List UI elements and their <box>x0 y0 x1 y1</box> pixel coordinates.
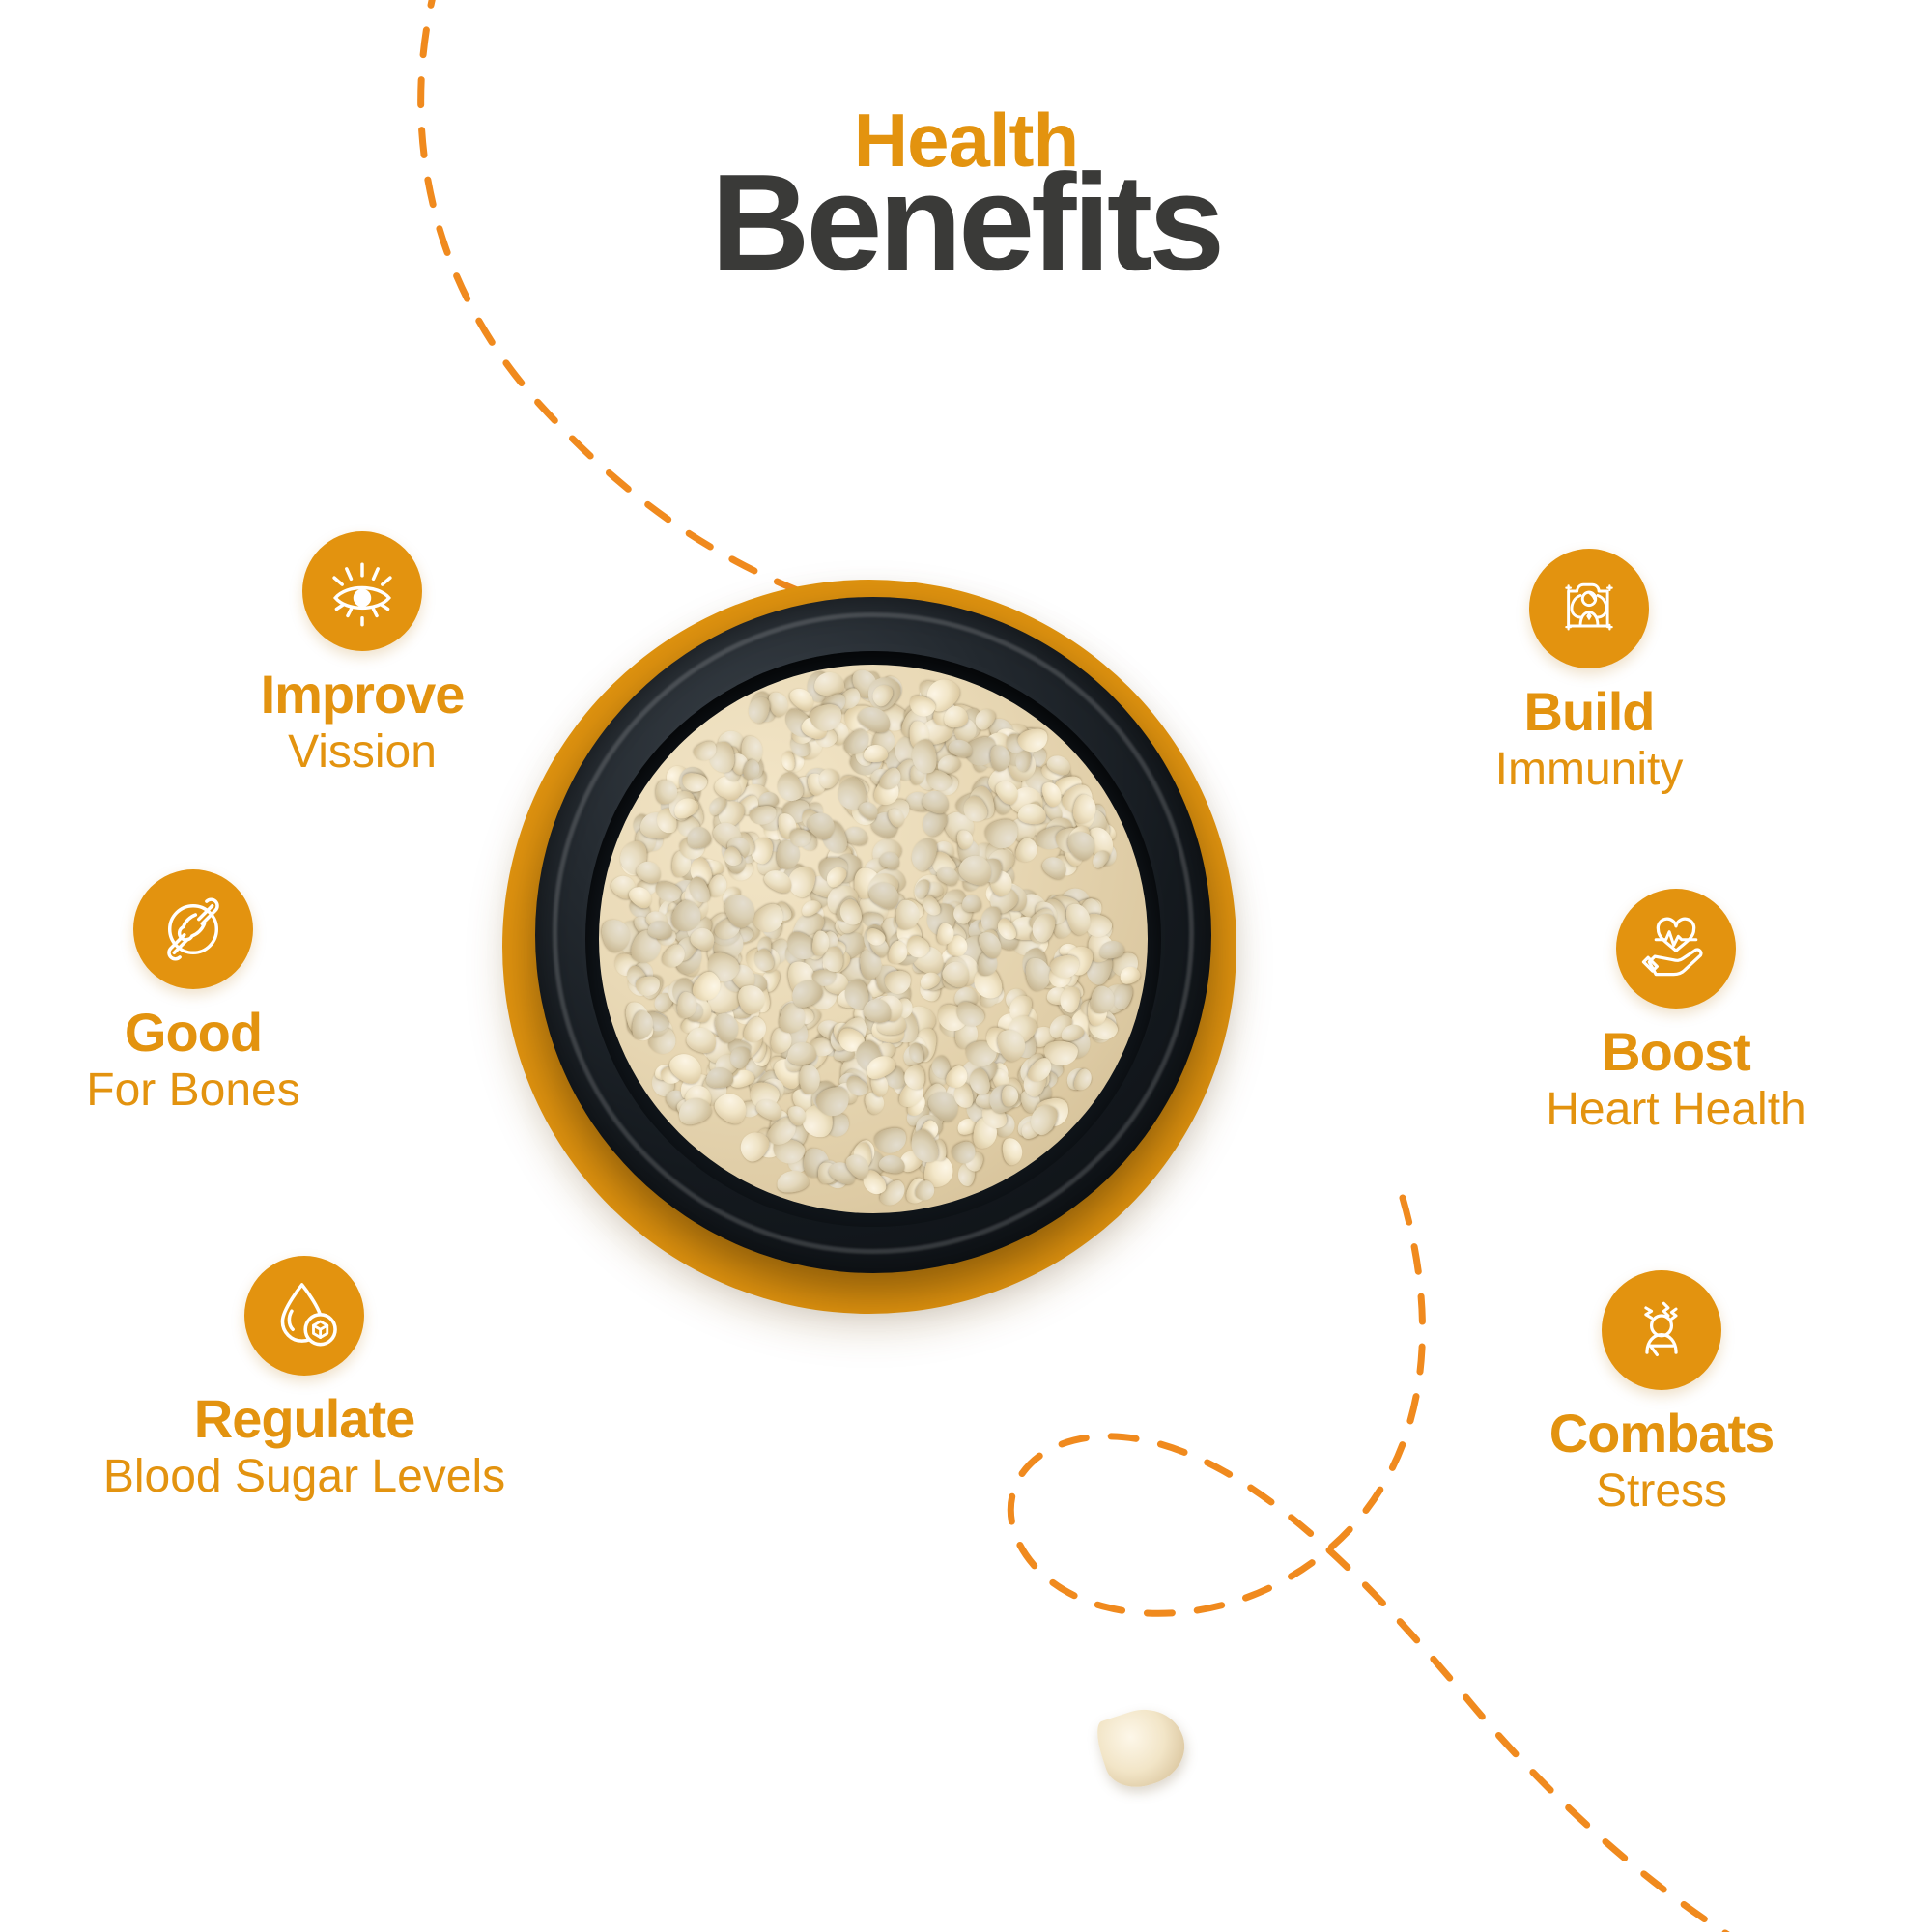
title-line-benefits: Benefits <box>0 160 1932 287</box>
benefit-title: Good <box>34 1005 353 1061</box>
benefit-title: Regulate <box>77 1391 531 1447</box>
benefit-label: Boost Heart Health <box>1492 1024 1860 1134</box>
stressed-person-icon <box>1602 1270 1721 1390</box>
bowl-interior <box>585 651 1161 1227</box>
benefit-subtitle: Vission <box>203 728 522 777</box>
benefit-label: Combats Stress <box>1459 1406 1864 1516</box>
benefit-subtitle: Heart Health <box>1492 1086 1860 1134</box>
benefit-boost-heart-health[interactable]: Boost Heart Health <box>1492 889 1860 1134</box>
benefit-title: Build <box>1406 684 1773 740</box>
bone-joint-icon <box>133 869 253 989</box>
benefit-title: Combats <box>1459 1406 1864 1462</box>
benefit-build-immunity[interactable]: Build Immunity <box>1406 549 1773 794</box>
benefit-label: Improve Vission <box>203 667 522 777</box>
benefit-improve-vision[interactable]: Improve Vission <box>203 531 522 777</box>
benefit-subtitle: Immunity <box>1406 746 1773 794</box>
benefit-label: Build Immunity <box>1406 684 1773 794</box>
benefit-subtitle: For Bones <box>34 1066 353 1115</box>
dashed-curve-top <box>421 0 840 607</box>
benefit-combats-stress[interactable]: Combats Stress <box>1459 1270 1864 1516</box>
benefit-title: Improve <box>203 667 522 723</box>
hand-heart-pulse-icon <box>1616 889 1736 1009</box>
page-title: Health Benefits <box>0 106 1932 286</box>
benefit-label: Regulate Blood Sugar Levels <box>77 1391 531 1501</box>
benefit-label: Good For Bones <box>34 1005 353 1115</box>
infographic-canvas: Health Benefits <box>0 0 1932 1932</box>
melon-seeds <box>599 665 1148 1213</box>
benefit-subtitle: Blood Sugar Levels <box>77 1453 531 1501</box>
eye-icon <box>302 531 422 651</box>
benefit-good-for-bones[interactable]: Good For Bones <box>34 869 353 1115</box>
blood-drop-sugar-icon <box>244 1256 364 1376</box>
melon-seed <box>961 895 981 913</box>
melon-seed <box>1001 1137 1024 1167</box>
immunity-person-shield-icon <box>1529 549 1649 668</box>
benefit-subtitle: Stress <box>1459 1467 1864 1516</box>
product-bowl <box>502 580 1236 1314</box>
benefit-regulate-blood-sugar[interactable]: Regulate Blood Sugar Levels <box>77 1256 531 1501</box>
benefit-title: Boost <box>1492 1024 1860 1080</box>
